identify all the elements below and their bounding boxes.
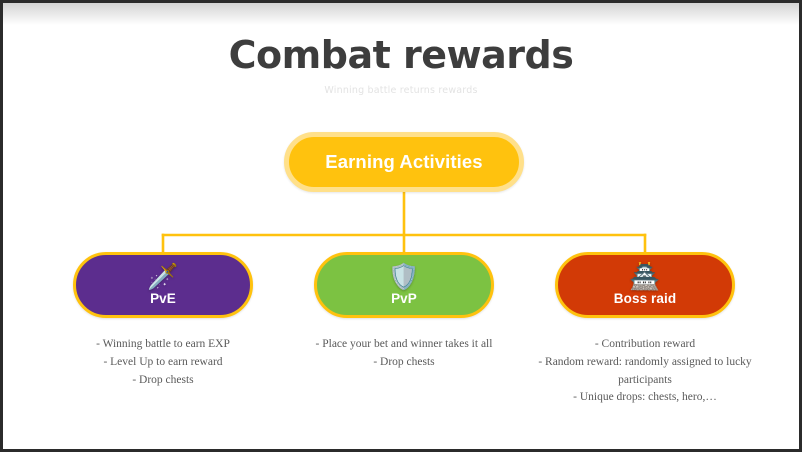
shield-sword-icon: 🛡️ [388,265,419,290]
dungeon-gate-skull-icon: 🏯 [629,265,660,290]
node-earning-activities[interactable]: Earning Activities [284,132,524,192]
page-title: Combat rewards [3,36,799,76]
node-boss-raid[interactable]: 🏯 Boss raid [555,252,735,318]
node-pve[interactable]: 🗡️ PvE [73,252,253,318]
slide-canvas: Combat rewards Winning battle returns re… [0,0,802,452]
list-item: - Contribution reward [533,336,757,354]
node-pve-label: PvE [150,291,176,306]
node-pvp[interactable]: 🛡️ PvP [314,252,494,318]
page-subtitle: Winning battle returns rewards [3,85,799,96]
list-item: - Drop chests [298,354,510,372]
node-pvp-label: PvP [391,291,417,306]
list-item: - Level Up to earn reward [51,354,275,372]
node-root-label: Earning Activities [325,151,482,173]
sword-icon: 🗡️ [147,265,178,290]
bullet-list-boss-raid: - Contribution reward - Random reward: r… [533,336,757,407]
top-gradient-strip [3,3,799,25]
node-boss-raid-label: Boss raid [614,291,676,306]
bullet-list-pvp: - Place your bet and winner takes it all… [298,336,510,372]
list-item: - Random reward: randomly assigned to lu… [533,354,757,390]
bullet-list-pve: - Winning battle to earn EXP - Level Up … [51,336,275,389]
list-item: - Unique drops: chests, hero,… [533,389,757,407]
list-item: - Place your bet and winner takes it all [298,336,510,354]
list-item: - Winning battle to earn EXP [51,336,275,354]
slide-header: Combat rewards Winning battle returns re… [3,36,799,96]
list-item: - Drop chests [51,372,275,390]
